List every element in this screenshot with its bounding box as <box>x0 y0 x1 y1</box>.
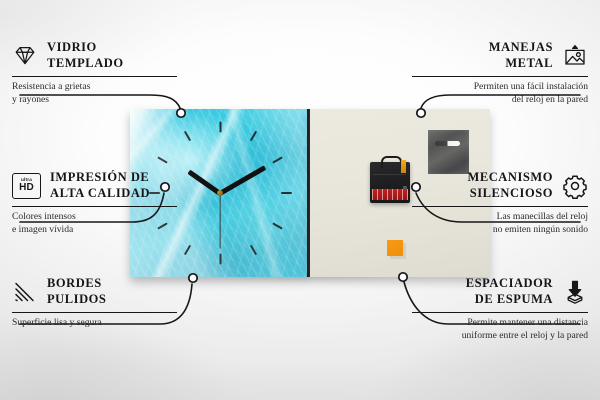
picture-frame-hanging-icon <box>562 43 588 69</box>
ultra-hd-icon: ultra HD <box>12 173 41 199</box>
clock-tick <box>219 254 221 265</box>
battery-bars <box>372 189 408 200</box>
feature-heading: MECANISMO SILENCIOSO <box>412 170 588 201</box>
feature-divider <box>12 312 177 313</box>
feature-title: MANEJAS METAL <box>489 40 553 71</box>
polished-edges-icon <box>12 279 38 305</box>
mechanism-loop <box>381 156 402 168</box>
feature-description: Permite mantener una distancia uniforme … <box>412 317 588 342</box>
clock-center-pin <box>217 190 223 196</box>
feature-divider <box>12 76 177 77</box>
feature-manejas-metal: MANEJAS METAL Permiten una fácil instala… <box>412 40 588 106</box>
feature-heading: ESPACIADOR DE ESPUMA <box>412 276 588 307</box>
feature-title: VIDRIO TEMPLADO <box>47 40 124 71</box>
feature-divider <box>12 206 177 207</box>
battery-compartment <box>372 189 408 200</box>
foam-spacer-arrow-icon <box>562 279 588 305</box>
feature-divider <box>412 206 588 207</box>
feature-description: Resistencia a grietas y rayones <box>12 81 177 106</box>
metal-hanger-plate <box>428 130 469 174</box>
feature-impresion-alta-calidad: ultra HD IMPRESIÓN DE ALTA CALIDAD Color… <box>12 170 177 236</box>
diamond-icon <box>12 43 38 69</box>
feature-title: MECANISMO SILENCIOSO <box>467 170 553 201</box>
mechanism-seam <box>373 174 406 175</box>
feature-heading: ultra HD IMPRESIÓN DE ALTA CALIDAD <box>12 170 177 201</box>
feature-heading: MANEJAS METAL <box>412 40 588 71</box>
hanger-slot <box>435 141 460 146</box>
infographic-canvas: VIDRIO TEMPLADO Resistencia a grietas y … <box>0 0 600 400</box>
clock-second-hand <box>219 193 220 249</box>
gear-icon <box>562 173 588 199</box>
feature-description: Superficie lisa y segura <box>12 317 177 329</box>
feature-description: Colores intensos e imagen vívida <box>12 211 177 236</box>
feature-heading: VIDRIO TEMPLADO <box>12 40 177 71</box>
feature-mecanismo-silencioso: MECANISMO SILENCIOSO Las manecillas del … <box>412 170 588 236</box>
clock-tick <box>281 192 292 194</box>
feature-heading: BORDES PULIDOS <box>12 276 177 307</box>
feature-divider <box>412 76 588 77</box>
clock-mechanism <box>370 162 410 203</box>
feature-espaciador-espuma: ESPACIADOR DE ESPUMA Permite mantener un… <box>412 276 588 342</box>
feature-vidrio-templado: VIDRIO TEMPLADO Resistencia a grietas y … <box>12 40 177 106</box>
battery-terminal <box>401 160 406 173</box>
feature-description: Permiten una fácil instalación del reloj… <box>412 81 588 106</box>
feature-description: Las manecillas del reloj no emiten ningú… <box>412 211 588 236</box>
feature-divider <box>412 312 588 313</box>
foam-spacer <box>387 240 403 256</box>
feature-title: BORDES PULIDOS <box>47 276 106 307</box>
feature-title: IMPRESIÓN DE ALTA CALIDAD <box>50 170 150 201</box>
feature-bordes-pulidos: BORDES PULIDOS Superficie lisa y segura <box>12 276 177 330</box>
clock-tick <box>219 122 221 133</box>
feature-title: ESPACIADOR DE ESPUMA <box>466 276 553 307</box>
